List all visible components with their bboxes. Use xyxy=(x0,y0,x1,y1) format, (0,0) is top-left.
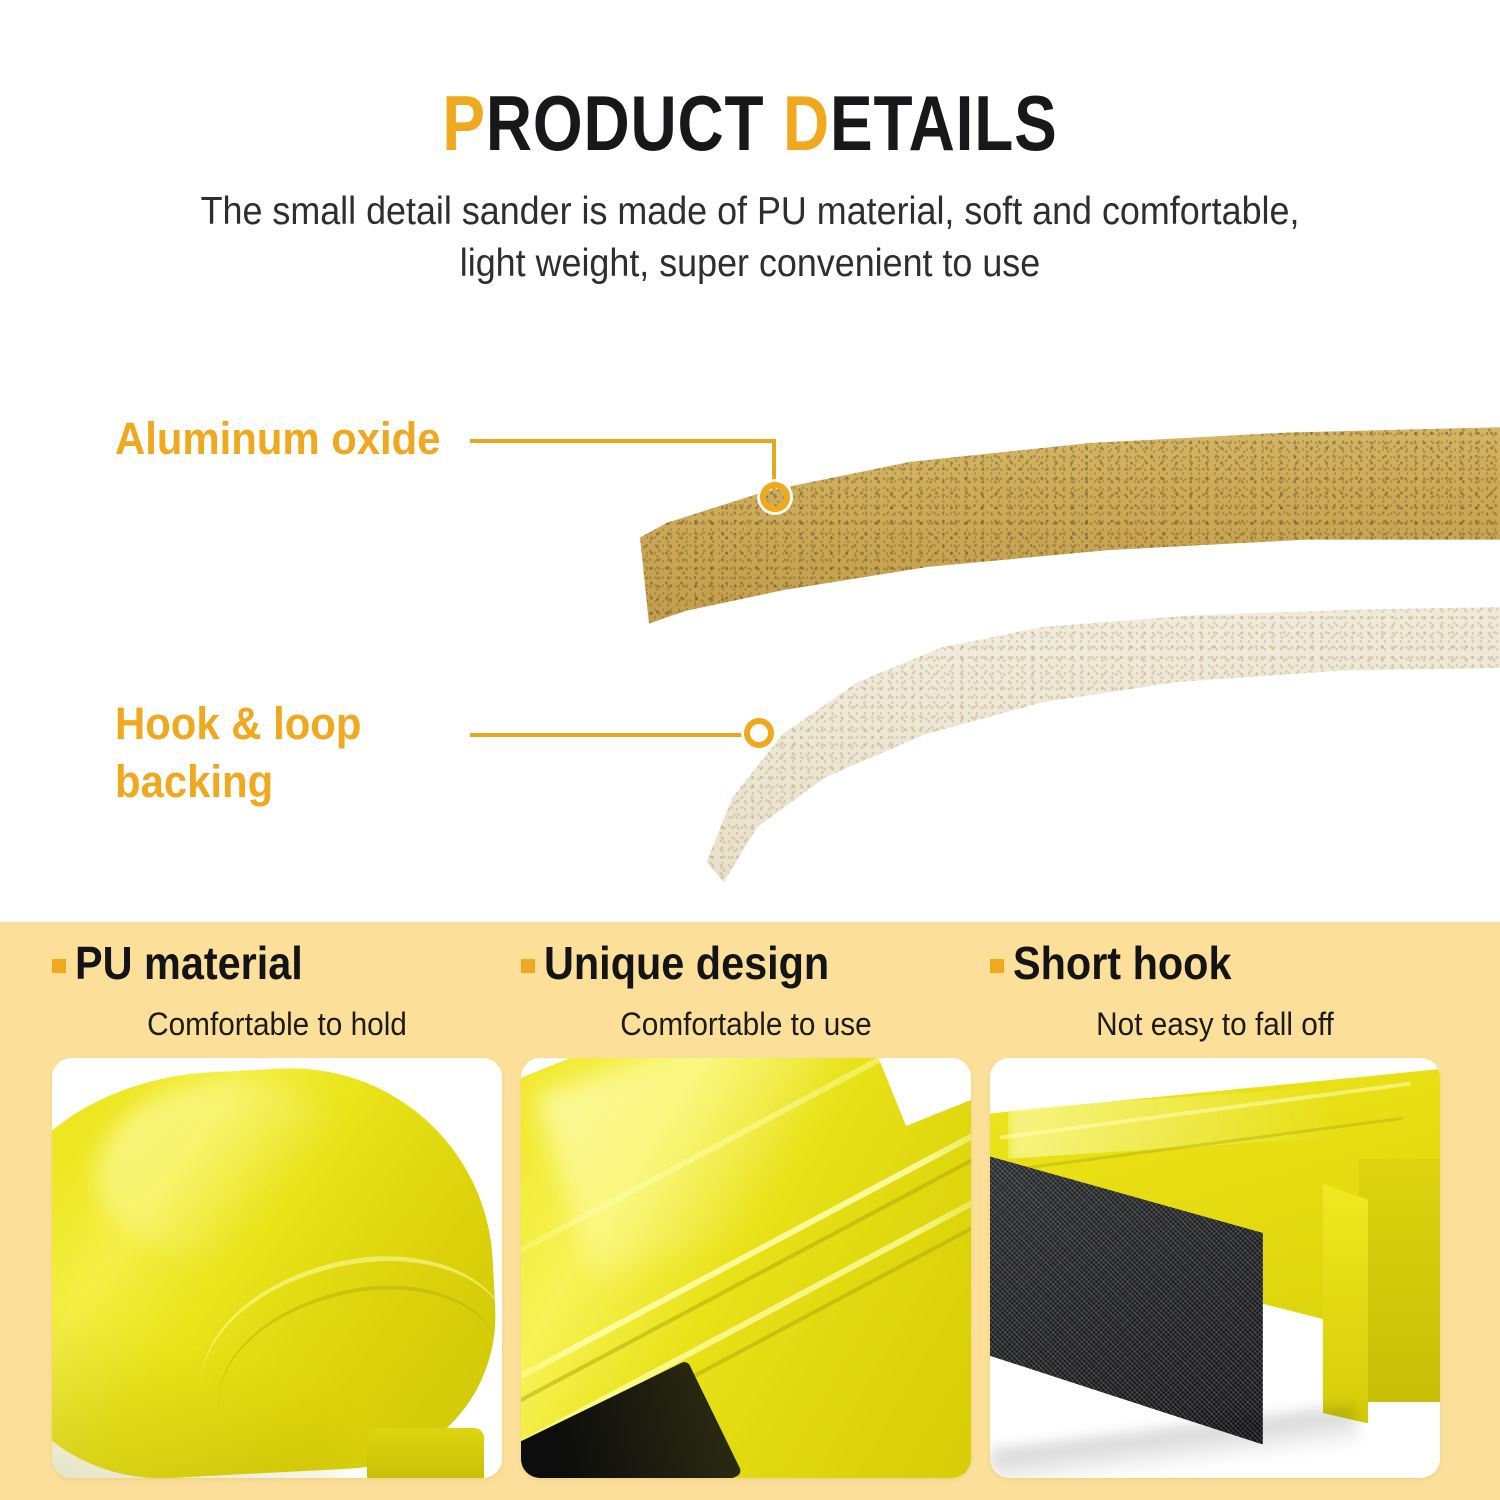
pu-handle-base xyxy=(367,1428,484,1478)
feature-heading-row: Short hook xyxy=(990,940,1440,986)
sander-block-front-edge xyxy=(1323,1163,1368,1423)
feature-card-pu-material: PU material Comfortable to hold xyxy=(52,922,502,1500)
feature-subtitle: Comfortable to hold xyxy=(68,1006,487,1043)
grooved-surface-closeup-photo xyxy=(521,1058,971,1478)
feature-heading-row: Unique design xyxy=(521,940,971,986)
callout-line-aluminum-horizontal xyxy=(470,439,776,443)
hook-loop-face-closeup-photo xyxy=(990,1058,1440,1478)
title-rest-details: ETAILS xyxy=(830,79,1058,167)
sander-block-shadow xyxy=(990,1405,1360,1478)
square-bullet-icon xyxy=(990,959,1004,973)
square-bullet-icon xyxy=(52,959,66,973)
feature-subtitle: Comfortable to use xyxy=(537,1006,956,1043)
page-subtitle: The small detail sander is made of PU ma… xyxy=(198,186,1302,290)
feature-title: PU material xyxy=(75,940,303,986)
title-rest-product: RODUCT xyxy=(486,79,783,167)
sander-block-side-face xyxy=(1359,1159,1440,1403)
feature-panel: PU material Comfortable to hold Unique d… xyxy=(0,922,1500,1500)
feature-title: Short hook xyxy=(1013,940,1231,986)
label-hook-loop-backing: Hook & loop backing xyxy=(115,695,506,810)
feature-card-short-hook: Short hook Not easy to fall off xyxy=(990,922,1440,1500)
pu-handle-highlight xyxy=(97,1083,358,1259)
callout-line-hook-horizontal xyxy=(470,733,750,737)
callout-marker-hook-icon xyxy=(744,718,774,748)
title-accent-p: P xyxy=(442,79,485,167)
hero-illustration-section: Aluminum oxide Hook & loop backing xyxy=(0,330,1500,922)
pu-handle-shadow xyxy=(52,1302,340,1478)
feature-card-list: PU material Comfortable to hold Unique d… xyxy=(0,922,1500,1500)
label-aluminum-oxide: Aluminum oxide xyxy=(115,410,487,468)
feature-subtitle: Not easy to fall off xyxy=(1006,1006,1425,1043)
header-section: PRODUCT DETAILS The small detail sander … xyxy=(0,0,1500,330)
feature-card-unique-design: Unique design Comfortable to use xyxy=(521,922,971,1500)
feature-title: Unique design xyxy=(544,940,829,986)
title-accent-d: D xyxy=(783,79,830,167)
hook-loop-backing-strip-image xyxy=(690,595,1500,885)
callout-marker-aluminum-icon xyxy=(760,482,790,512)
feature-heading-row: PU material xyxy=(52,940,502,986)
page-title: PRODUCT DETAILS xyxy=(135,84,1365,162)
pu-handle-closeup-photo xyxy=(52,1058,502,1478)
aluminum-oxide-abrasive-strip-image xyxy=(640,422,1500,632)
square-bullet-icon xyxy=(521,959,535,973)
